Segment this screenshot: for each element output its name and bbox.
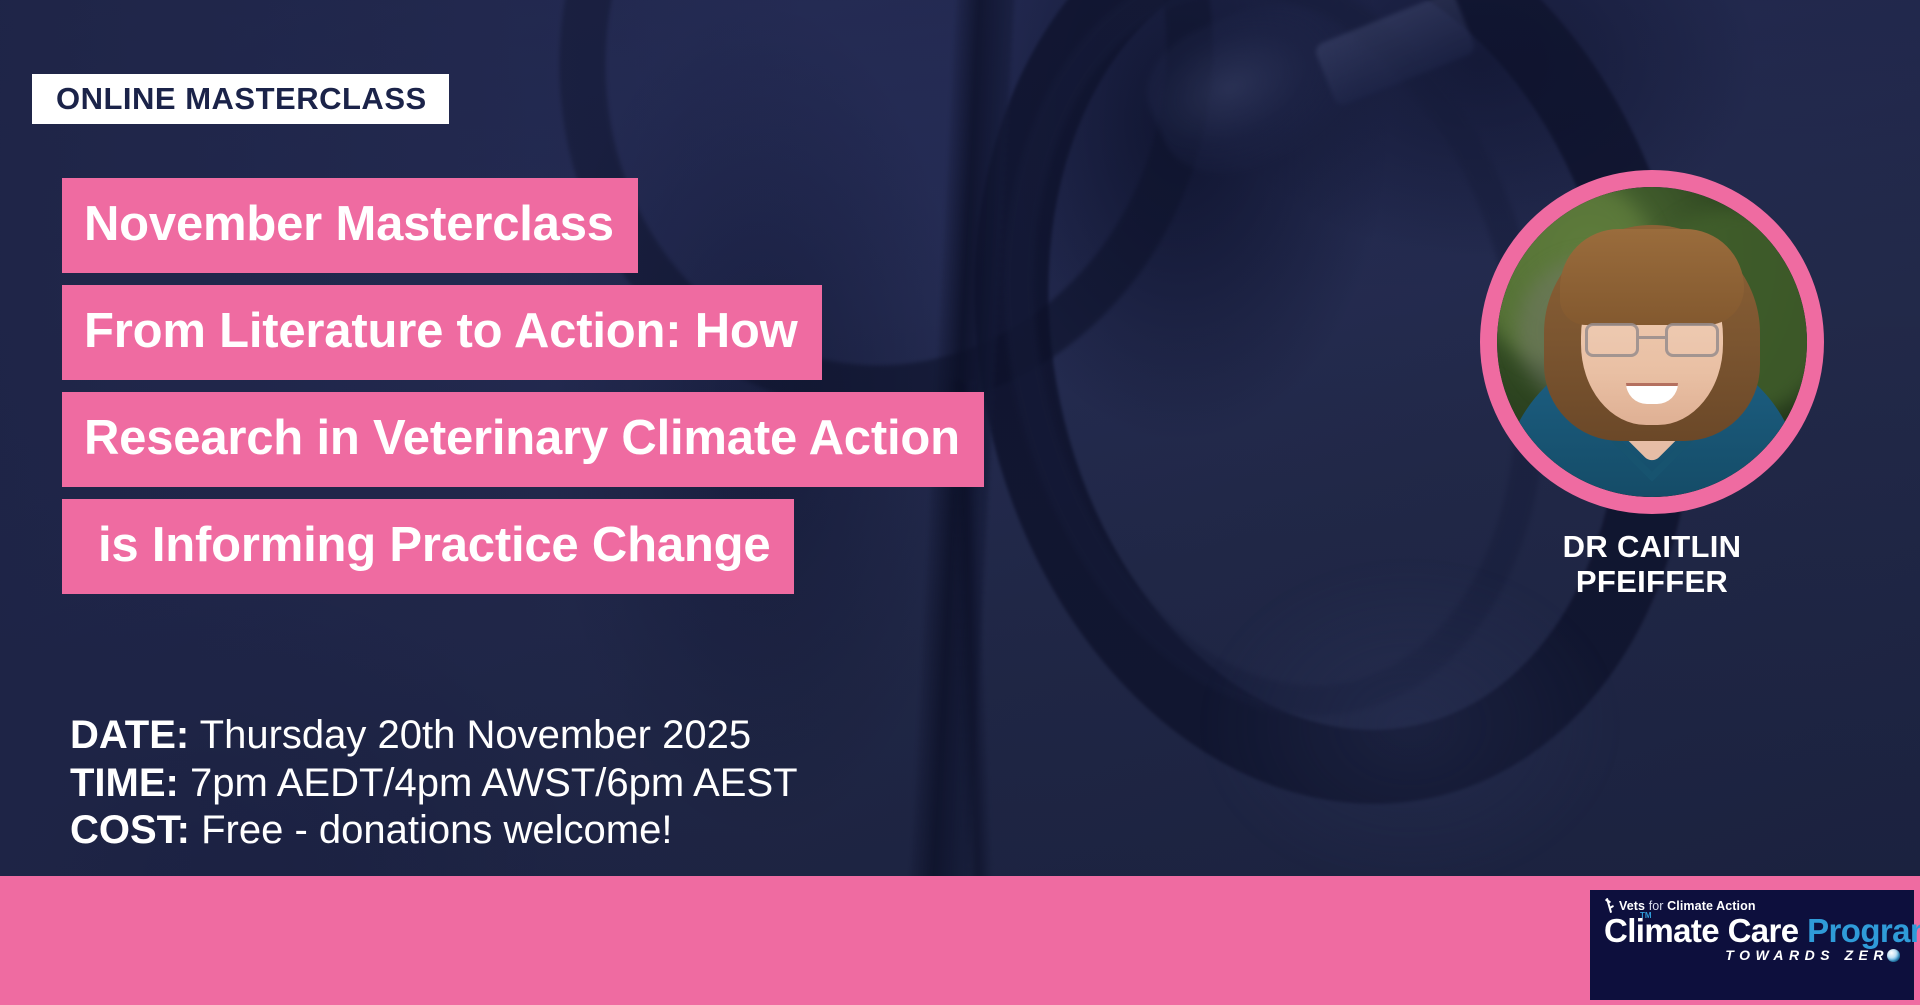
speaker-avatar (1480, 170, 1824, 514)
online-masterclass-badge: ONLINE MASTERCLASS (32, 74, 449, 124)
headline-block: November Masterclass From Literature to … (62, 178, 984, 606)
event-promo-poster: ONLINE MASTERCLASS November Masterclass … (0, 0, 1920, 1005)
headline-row: From Literature to Action: How (62, 285, 984, 380)
logo-org-suffix: Climate Action (1667, 899, 1755, 913)
speaker-name-line-2: PFEIFFER (1472, 565, 1832, 600)
headline-line-4: is Informing Practice Change (62, 499, 794, 594)
detail-time: TIME: 7pm AEDT/4pm AWST/6pm AEST (70, 760, 798, 808)
detail-date-label: DATE: (70, 713, 189, 757)
detail-time-label: TIME: (70, 761, 179, 805)
headline-line-3: Research in Veterinary Climate Action (62, 392, 984, 487)
detail-cost-label: COST: (70, 808, 190, 852)
speaker-photo (1497, 187, 1807, 497)
globe-icon (1887, 949, 1900, 962)
detail-date-value: Thursday 20th November 2025 (189, 713, 751, 757)
logo-subtitle-row: TOWARDS ZER (1604, 947, 1902, 963)
logo-title-white: Climate Care (1604, 912, 1807, 949)
detail-cost: COST: Free - donations welcome! (70, 807, 798, 855)
headline-row: is Informing Practice Change (62, 499, 984, 594)
photo-glasses-icon (1585, 323, 1719, 357)
event-details-block: DATE: Thursday 20th November 2025 TIME: … (70, 712, 798, 855)
glasses-lens-left (1585, 323, 1639, 357)
headline-line-1: November Masterclass (62, 178, 638, 273)
logo-title: TMClimate Care Program (1604, 914, 1902, 948)
detail-cost-value: Free - donations welcome! (190, 808, 672, 852)
photo-hair-fringe (1560, 229, 1744, 325)
detail-date: DATE: Thursday 20th November 2025 (70, 712, 798, 760)
headline-line-2: From Literature to Action: How (62, 285, 822, 380)
headline-row: November Masterclass (62, 178, 984, 273)
climate-care-program-logo: Vets for Climate Action TMClimate Care P… (1590, 890, 1914, 1000)
detail-time-value: 7pm AEDT/4pm AWST/6pm AEST (179, 761, 798, 805)
logo-subtitle: TOWARDS ZER (1725, 947, 1889, 963)
glasses-lens-right (1665, 323, 1719, 357)
logo-trademark: TM (1640, 912, 1652, 920)
badge-label: ONLINE MASTERCLASS (56, 83, 427, 114)
logo-title-blue: Program (1807, 912, 1920, 949)
speaker-name: DR CAITLIN PFEIFFER (1472, 530, 1832, 599)
glasses-bridge (1639, 336, 1665, 339)
vets-for-climate-action-icon (1604, 898, 1615, 913)
speaker-name-line-1: DR CAITLIN (1472, 530, 1832, 565)
speaker-block: DR CAITLIN PFEIFFER (1472, 170, 1832, 599)
headline-row: Research in Veterinary Climate Action (62, 392, 984, 487)
